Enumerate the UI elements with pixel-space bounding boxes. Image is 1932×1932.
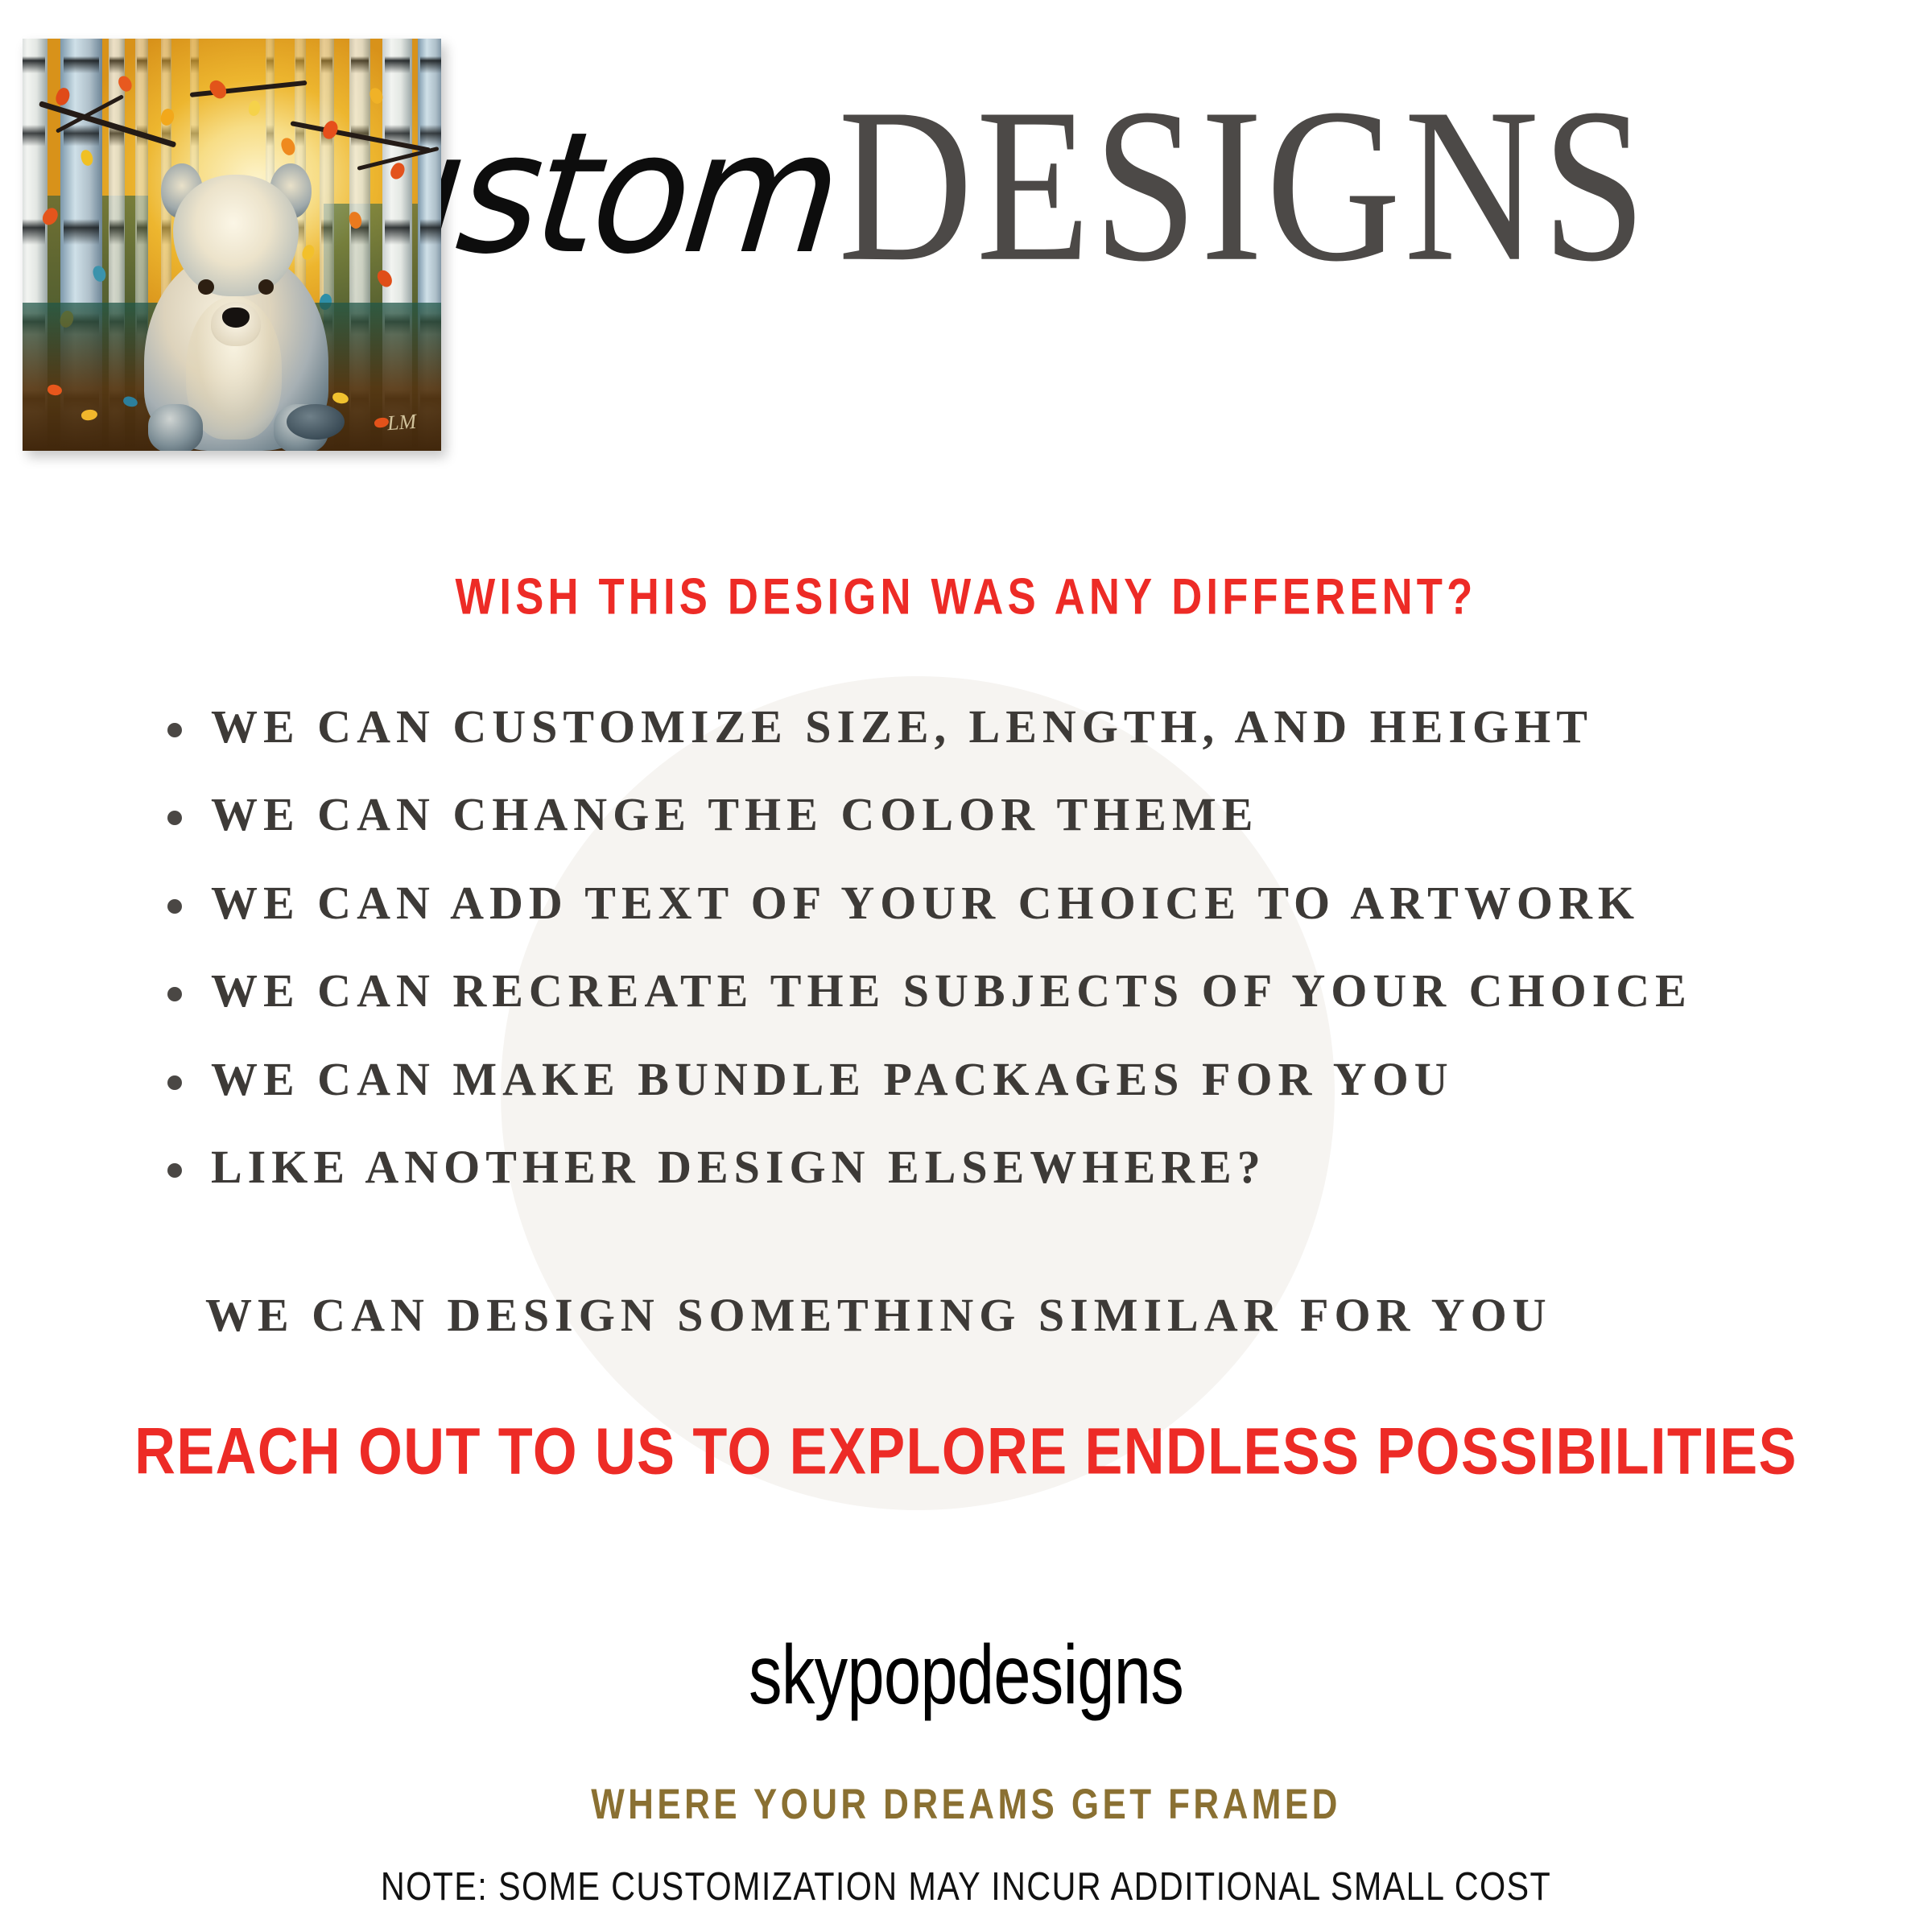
list-item: WE CAN RECREATE THE SUBJECTS OF YOUR CHO… bbox=[161, 966, 1851, 1015]
feature-list: WE CAN CUSTOMIZE SIZE, LENGTH, AND HEIGH… bbox=[161, 702, 1851, 1231]
bear-head bbox=[173, 175, 299, 296]
bullet-dot-icon bbox=[167, 987, 182, 1001]
bullet-dot-icon bbox=[167, 1163, 182, 1178]
list-item-label: WE CAN ADD TEXT OF YOUR CHOICE TO ARTWOR… bbox=[211, 877, 1640, 929]
list-item-label: LIKE ANOTHER DESIGN ELSEWHERE? bbox=[211, 1141, 1266, 1193]
footer-note: NOTE: SOME CUSTOMIZATION MAY INCUR ADDIT… bbox=[97, 1863, 1835, 1909]
list-item-label: WE CAN CUSTOMIZE SIZE, LENGTH, AND HEIGH… bbox=[211, 700, 1593, 753]
bear-eye-right bbox=[258, 279, 275, 295]
list-item: WE CAN ADD TEXT OF YOUR CHOICE TO ARTWOR… bbox=[161, 878, 1851, 927]
bear-eye-left bbox=[198, 279, 214, 295]
list-item-label: WE CAN MAKE BUNDLE PACKAGES FOR YOU bbox=[211, 1053, 1454, 1105]
subtitle-question: WISH THIS DESIGN WAS ANY DIFFERENT? bbox=[58, 567, 1874, 625]
call-to-action-text: REACH OUT TO US TO EXPLORE ENDLESS POSSI… bbox=[48, 1414, 1884, 1489]
brand-logo-text: skypopdesigns bbox=[193, 1628, 1739, 1724]
list-item-label: WE CAN RECREATE THE SUBJECTS OF YOUR CHO… bbox=[211, 964, 1692, 1017]
title-serif-designs: DESIGNS bbox=[838, 80, 1649, 292]
list-item: WE CAN MAKE BUNDLE PACKAGES FOR YOU bbox=[161, 1055, 1851, 1104]
bear-front-leg-left bbox=[148, 404, 203, 451]
list-item: WE CAN CUSTOMIZE SIZE, LENGTH, AND HEIGH… bbox=[161, 702, 1851, 751]
artist-signature: LM bbox=[386, 409, 417, 435]
bullet-dot-icon bbox=[167, 899, 182, 914]
bear-hind-paw bbox=[287, 404, 345, 440]
artwork-thumbnail[interactable]: LM bbox=[23, 39, 441, 451]
brand-tagline: WHERE YOUR DREAMS GET FRAMED bbox=[116, 1780, 1816, 1829]
list-item-label: WE CAN CHANGE THE COLOR THEME bbox=[211, 788, 1258, 840]
bullet-dot-icon bbox=[167, 1075, 182, 1090]
list-item: LIKE ANOTHER DESIGN ELSEWHERE? bbox=[161, 1142, 1851, 1191]
bullet-dot-icon bbox=[167, 723, 182, 737]
bullet-dot-icon bbox=[167, 811, 182, 825]
list-item: WE CAN CHANGE THE COLOR THEME bbox=[161, 790, 1851, 839]
bear-cub-figure bbox=[131, 175, 341, 451]
list-continuation-label: WE CAN DESIGN SOMETHING SIMILAR FOR YOU bbox=[205, 1288, 1552, 1342]
